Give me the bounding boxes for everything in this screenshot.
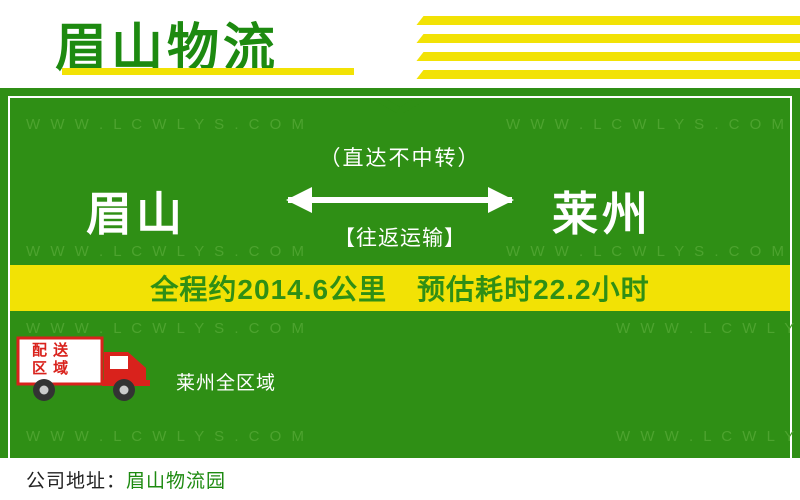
- watermark-text: W W W . L C W L Y S . C O M: [616, 320, 800, 337]
- top-chevron-notch: [374, 92, 426, 118]
- stripe-1: [416, 16, 800, 25]
- address-label: 公司地址：: [26, 466, 126, 493]
- watermark-text: W W W . L C W L Y S . C O M: [616, 428, 800, 445]
- truck-label-line1: 配 送: [32, 342, 69, 359]
- arrow-head-right: [488, 187, 514, 213]
- arrow-shaft: [288, 197, 512, 203]
- address-value: 眉山物流园: [126, 466, 226, 493]
- address-bar: 公司地址： 眉山物流园: [0, 458, 800, 500]
- watermark-text: W W W . L C W L Y S . C O M: [506, 116, 787, 133]
- stats-band: 全程约2014.6公里 预估耗时22.2小时: [10, 265, 790, 311]
- stripe-3: [416, 52, 800, 61]
- brand-underline: [62, 68, 354, 75]
- coverage-area-text: 莱州全区域: [176, 368, 276, 395]
- header-chevron-stripes: [380, 0, 800, 88]
- distance-text: 全程约2014.6公里: [150, 268, 387, 308]
- watermark-text: W W W . L C W L Y S . C O M: [26, 243, 307, 260]
- logistics-poster: 眉山物流 W W W . L C W L Y S . C O M W W W .…: [0, 0, 800, 500]
- origin-city: 眉山: [86, 178, 186, 244]
- stripe-4: [416, 70, 800, 79]
- direct-shipping-note: （直达不中转）: [300, 142, 500, 172]
- header-band: 眉山物流: [0, 0, 800, 88]
- watermark-text: W W W . L C W L Y S . C O M: [506, 243, 787, 260]
- duration-text: 预估耗时22.2小时: [417, 268, 650, 308]
- delivery-truck-icon: 配 送 区 域: [16, 334, 166, 406]
- truck-label-line2: 区 域: [32, 360, 69, 377]
- stripe-2: [416, 34, 800, 43]
- arrow-head-left: [286, 187, 312, 213]
- watermark-text: W W W . L C W L Y S . C O M: [26, 428, 307, 445]
- destination-city: 莱州: [552, 178, 652, 244]
- roundtrip-note: 【往返运输】: [300, 222, 500, 252]
- watermark-text: W W W . L C W L Y S . C O M: [26, 116, 307, 133]
- bidirectional-arrow-icon: [288, 183, 512, 217]
